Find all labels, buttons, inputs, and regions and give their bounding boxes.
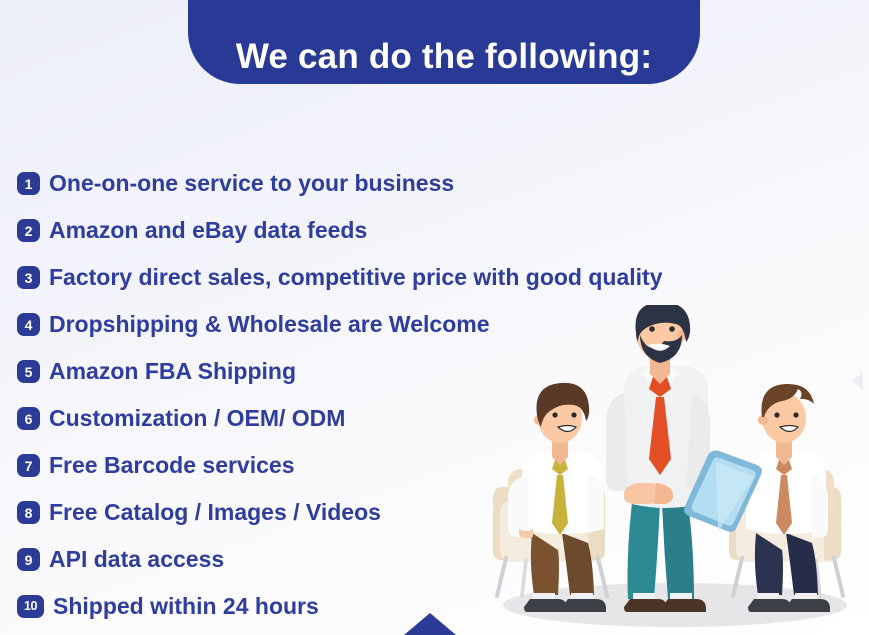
list-number-badge: 6 <box>17 407 40 430</box>
page-title: We can do the following: <box>236 39 652 74</box>
list-item: 1 One-on-one service to your business <box>17 160 717 207</box>
list-number-badge: 1 <box>17 172 40 195</box>
list-item-label: Shipped within 24 hours <box>53 595 319 618</box>
list-number-badge: 5 <box>17 360 40 383</box>
list-item-label: Free Catalog / Images / Videos <box>49 501 381 524</box>
list-item-label: Amazon FBA Shipping <box>49 360 296 383</box>
list-item-label: Dropshipping & Wholesale are Welcome <box>49 313 490 336</box>
list-item-label: Free Barcode services <box>49 454 295 477</box>
bottom-arrow-up-icon <box>404 613 456 635</box>
edge-chevron-left-icon <box>852 372 863 390</box>
list-item-label: API data access <box>49 548 224 571</box>
slide-root: We can do the following: 1 One-on-one se… <box>0 0 869 635</box>
list-number-badge: 3 <box>17 266 40 289</box>
list-item-label: Factory direct sales, competitive price … <box>49 266 663 289</box>
list-number-badge: 10 <box>17 595 44 618</box>
figure-standing-center <box>606 305 710 612</box>
list-number-badge: 8 <box>17 501 40 524</box>
list-item-label: One-on-one service to your business <box>49 172 454 195</box>
list-item-label: Customization / OEM/ ODM <box>49 407 345 430</box>
list-number-badge: 2 <box>17 219 40 242</box>
list-item: 3 Factory direct sales, competitive pric… <box>17 254 717 301</box>
list-item-label: Amazon and eBay data feeds <box>49 219 367 242</box>
header-banner: We can do the following: <box>188 0 700 84</box>
list-number-badge: 9 <box>17 548 40 571</box>
list-number-badge: 7 <box>17 454 40 477</box>
businessmen-illustration <box>470 305 869 635</box>
list-item: 2 Amazon and eBay data feeds <box>17 207 717 254</box>
list-number-badge: 4 <box>17 313 40 336</box>
